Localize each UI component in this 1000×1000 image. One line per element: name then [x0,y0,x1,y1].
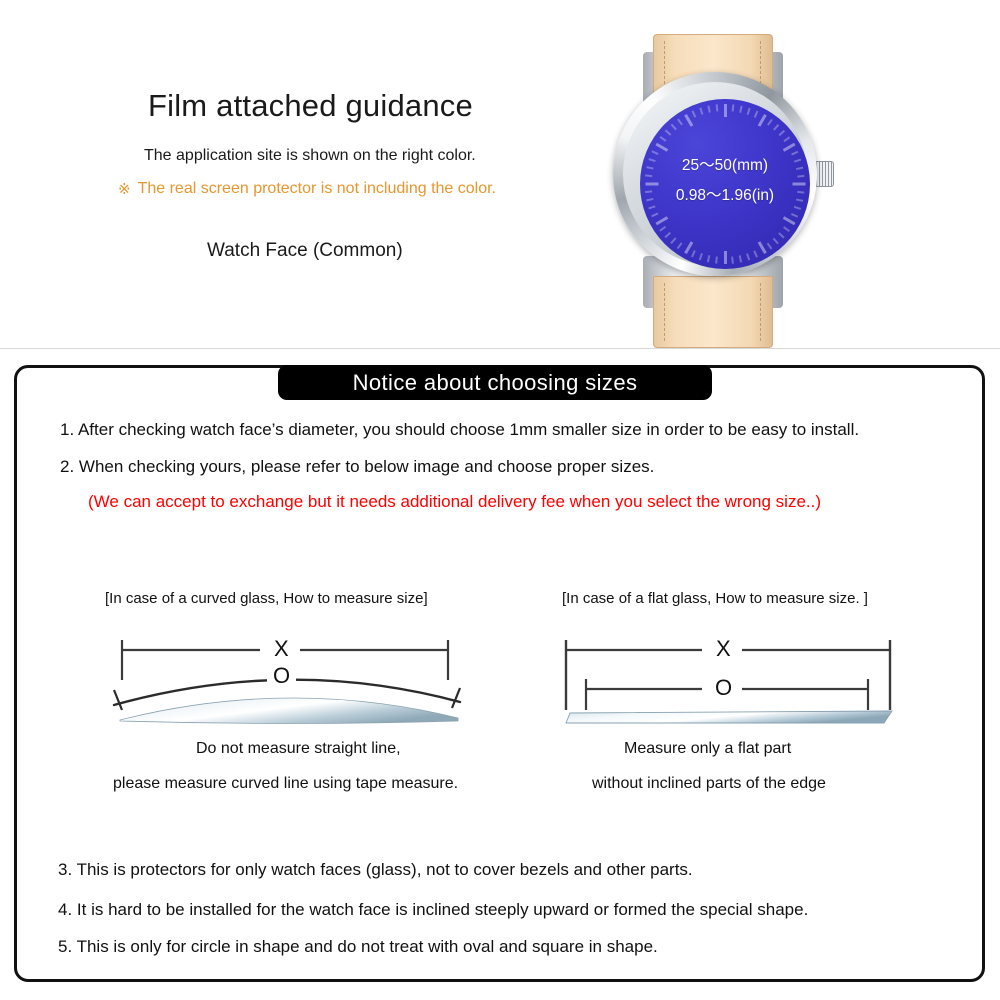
flat-glass-svg [550,622,930,737]
curved-caption-line-2: please measure curved line using tape me… [113,775,458,793]
curved-glass-diagram: X O [100,622,480,737]
dial-tick [757,241,766,254]
flat-diagram-caption: [In case of a flat glass, How to measure… [562,590,868,607]
flat-label-x: X [710,638,737,660]
watch-strap-bottom [653,276,773,348]
dial-size-mm: 25～50(mm) [640,151,810,181]
notice-item-1: 1. After checking watch face’s diameter,… [60,420,859,440]
dial-tick [773,238,779,244]
dial-tick [708,106,711,113]
guidance-section: Film attached guidance The application s… [0,0,1000,350]
dial-tick [754,111,758,118]
strap-stitch [664,283,666,341]
notice-item-2: 2. When checking yours, please refer to … [60,457,654,477]
flat-caption-line-1: Measure only a flat part [624,740,791,758]
notice-red-warning: (We can accept to exchange but it needs … [88,492,821,512]
dial-tick [732,257,734,264]
dial-tick [747,253,751,260]
dial-tick [791,213,798,217]
dial-tick [677,243,682,250]
dial-tick [739,255,742,262]
dial-tick [724,251,727,264]
dial-tick [724,104,727,117]
watch-illustration: 25～50(mm) 0.98～1.96(in) [610,28,840,328]
dial-tick [767,243,772,250]
dial-tick [784,226,791,231]
flat-label-o: O [709,677,738,699]
watch-dial: 25～50(mm) 0.98～1.96(in) [640,99,810,269]
dial-tick [732,104,734,111]
dial-tick [779,130,785,136]
notice-item-5: 5. This is only for circle in shape and … [58,937,658,957]
dial-tick [692,111,696,118]
dial-tick [665,232,671,238]
notice-item-3: 3. This is protectors for only watch fac… [58,860,693,880]
guidance-note-text: The real screen protector is not includi… [138,180,496,198]
dial-tick [784,136,791,141]
dial-tick [700,108,704,115]
notice-header: Notice about choosing sizes [278,365,712,400]
dial-tick [716,104,718,111]
dial-tick [665,130,671,136]
dial-tick [782,216,795,225]
dial-size-in: 0.98～1.96(in) [640,181,810,211]
curved-caption-line-1: Do not measure straight line, [196,740,401,758]
dial-tick [655,216,668,225]
strap-stitch [760,283,762,341]
dial-tick [660,136,667,141]
flat-caption-line-2: without inclined parts of the edge [592,775,826,793]
flat-glass-diagram: X O [550,622,930,737]
watch-face-label: Watch Face (Common) [207,240,403,262]
dial-tick [708,255,711,262]
dial-tick [671,238,677,244]
dial-tick [700,253,704,260]
guidance-note: ※ The real screen protector is not inclu… [118,180,496,198]
section-divider [0,348,1000,349]
dial-tick [652,213,659,217]
page-title: Film attached guidance [148,88,473,124]
dial-tick [757,114,766,127]
dial-tick [684,241,693,254]
dial-tick [747,108,751,115]
dial-tick [767,119,772,126]
guidance-subtitle: The application site is shown on the rig… [144,147,476,165]
dial-tick [660,226,667,231]
dial-tick [754,250,758,257]
dial-tick [716,257,718,264]
watch-bezel-inner-ring: 25～50(mm) 0.98～1.96(in) [623,82,807,266]
reference-mark-icon: ※ [118,182,131,197]
dial-tick [779,232,785,238]
dial-tick [773,124,779,130]
curved-diagram-caption: [In case of a curved glass, How to measu… [105,590,428,607]
notice-item-4: 4. It is hard to be installed for the wa… [58,900,808,920]
dial-tick [692,250,696,257]
dial-tick [684,114,693,127]
watch-dial-size-text: 25～50(mm) 0.98～1.96(in) [640,151,810,211]
curved-label-x: X [268,638,295,660]
watch-bezel: 25～50(mm) 0.98～1.96(in) [613,72,817,276]
curved-label-o: O [267,665,296,687]
dial-tick [739,106,742,113]
dial-tick [677,119,682,126]
dial-tick [671,124,677,130]
